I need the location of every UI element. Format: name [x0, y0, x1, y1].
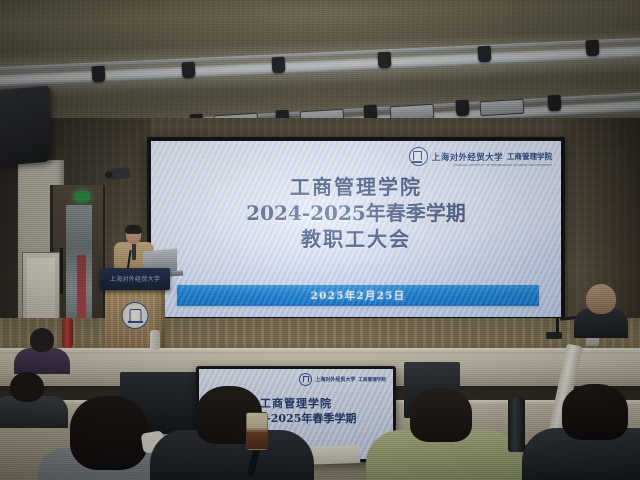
audience-person-front-center [156, 386, 304, 480]
presenter-glasses-icon [127, 233, 140, 237]
person-head [586, 284, 616, 314]
presenter-tie [132, 244, 136, 260]
presentation-slide: 上海对外经贸大学 工商管理学院 SHANGHAI UNIVERSITY OF I… [151, 141, 561, 317]
slide-logo-university: 上海对外经贸大学 [432, 151, 503, 163]
slide-date-banner: 2025年2月25日 [177, 285, 539, 306]
slide-title-block: 工商管理学院 2024-2025年春季学期 教职工大会 [151, 174, 561, 252]
slide-title-line-2: 2024-2025年春季学期 [151, 200, 561, 226]
slide-logo-english: SHANGHAI UNIVERSITY OF INTERNATIONAL BUS… [453, 164, 552, 167]
slide-date-text: 2025年2月25日 [311, 288, 406, 303]
monitor-logo: 上海对外经贸大学 工商管理学院 [299, 373, 386, 386]
audience-person-front-right [376, 388, 512, 480]
person-head [562, 384, 628, 440]
university-seal-icon [122, 302, 149, 329]
presenter-hair [125, 225, 142, 233]
door-handle[interactable] [60, 248, 63, 294]
university-seal-icon [299, 373, 312, 386]
ceiling-speaker-icon [0, 86, 50, 167]
university-seal-icon [409, 147, 428, 166]
slide-logo-school: 工商管理学院 [507, 151, 552, 162]
emergency-exit-sign-icon [75, 192, 89, 201]
wall-red-banner [77, 255, 86, 325]
person-head [10, 372, 44, 402]
front-row-person-right [578, 284, 624, 334]
podium-top-panel: 上海对外经贸大学 [100, 268, 170, 290]
person-head [70, 396, 148, 470]
desk-row-back-edge [0, 348, 640, 354]
black-thermos-bottle [508, 398, 525, 452]
lecture-hall-photo: 上海对外经贸大学 工商管理学院 SHANGHAI UNIVERSITY OF I… [0, 0, 640, 480]
person-head [410, 388, 472, 442]
monitor-logo-school: 工商管理学院 [358, 377, 386, 383]
tea-thermos-cup [246, 412, 268, 450]
desk-microphone-base [546, 332, 562, 339]
white-cup [150, 330, 160, 350]
person-head [30, 328, 54, 352]
ceiling [0, 0, 640, 132]
monitor-logo-university: 上海对外经贸大学 [315, 376, 355, 383]
projection-screen: 上海对外经贸大学 工商管理学院 SHANGHAI UNIVERSITY OF I… [147, 137, 565, 321]
ceiling-shading [0, 0, 640, 132]
slide-title-line-1: 工商管理学院 [151, 174, 561, 200]
podium-university-text: 上海对外经贸大学 [100, 274, 170, 283]
slide-title-line-3: 教职工大会 [151, 226, 561, 252]
audience-person-right-edge [536, 384, 640, 480]
red-thermos-bottle [62, 318, 73, 348]
